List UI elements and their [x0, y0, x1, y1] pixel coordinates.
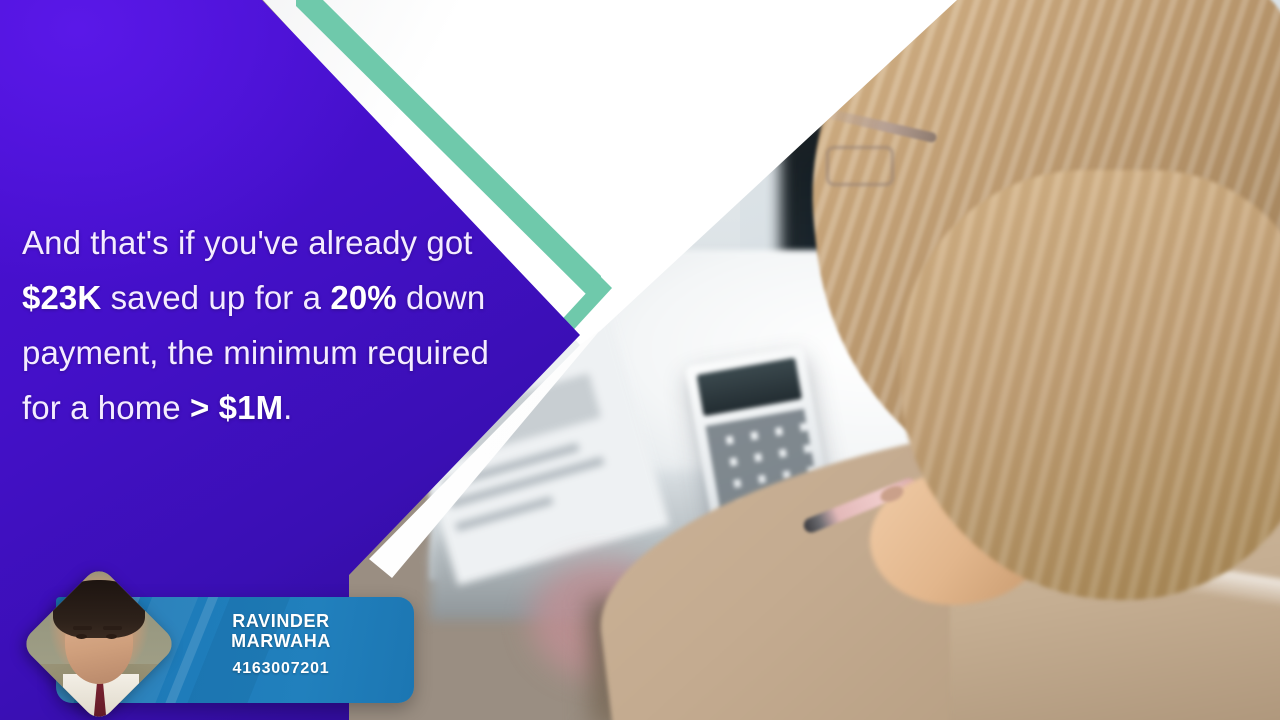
avatar-brow-right [103, 626, 122, 630]
headline-run: saved up for a [101, 279, 330, 316]
presenter-name-line-2: MARWAHA [166, 631, 396, 651]
headline-run: . [283, 389, 292, 426]
glasses-lens [826, 146, 894, 186]
headline-run: And that's if you've already got [22, 224, 473, 261]
headline-emphasis: $23K [22, 279, 101, 316]
presenter-name-line-1: RAVINDER [166, 611, 396, 631]
headline-span: And that's if you've already got $23K sa… [22, 224, 489, 426]
video-slide: And that's if you've already got $23K sa… [0, 0, 1280, 720]
headline-text: And that's if you've already got $23K sa… [22, 215, 492, 435]
calculator-screen [696, 358, 802, 417]
avatar-brow-left [73, 626, 92, 630]
presenter-phone: 4163007201 [166, 660, 396, 678]
headline-emphasis: 20% [330, 279, 396, 316]
banner-text-group: RAVINDER MARWAHA 4163007201 [166, 611, 396, 678]
avatar-eye-right [106, 634, 117, 639]
avatar-eye-left [76, 634, 87, 639]
headline-emphasis: > $1M [190, 389, 283, 426]
